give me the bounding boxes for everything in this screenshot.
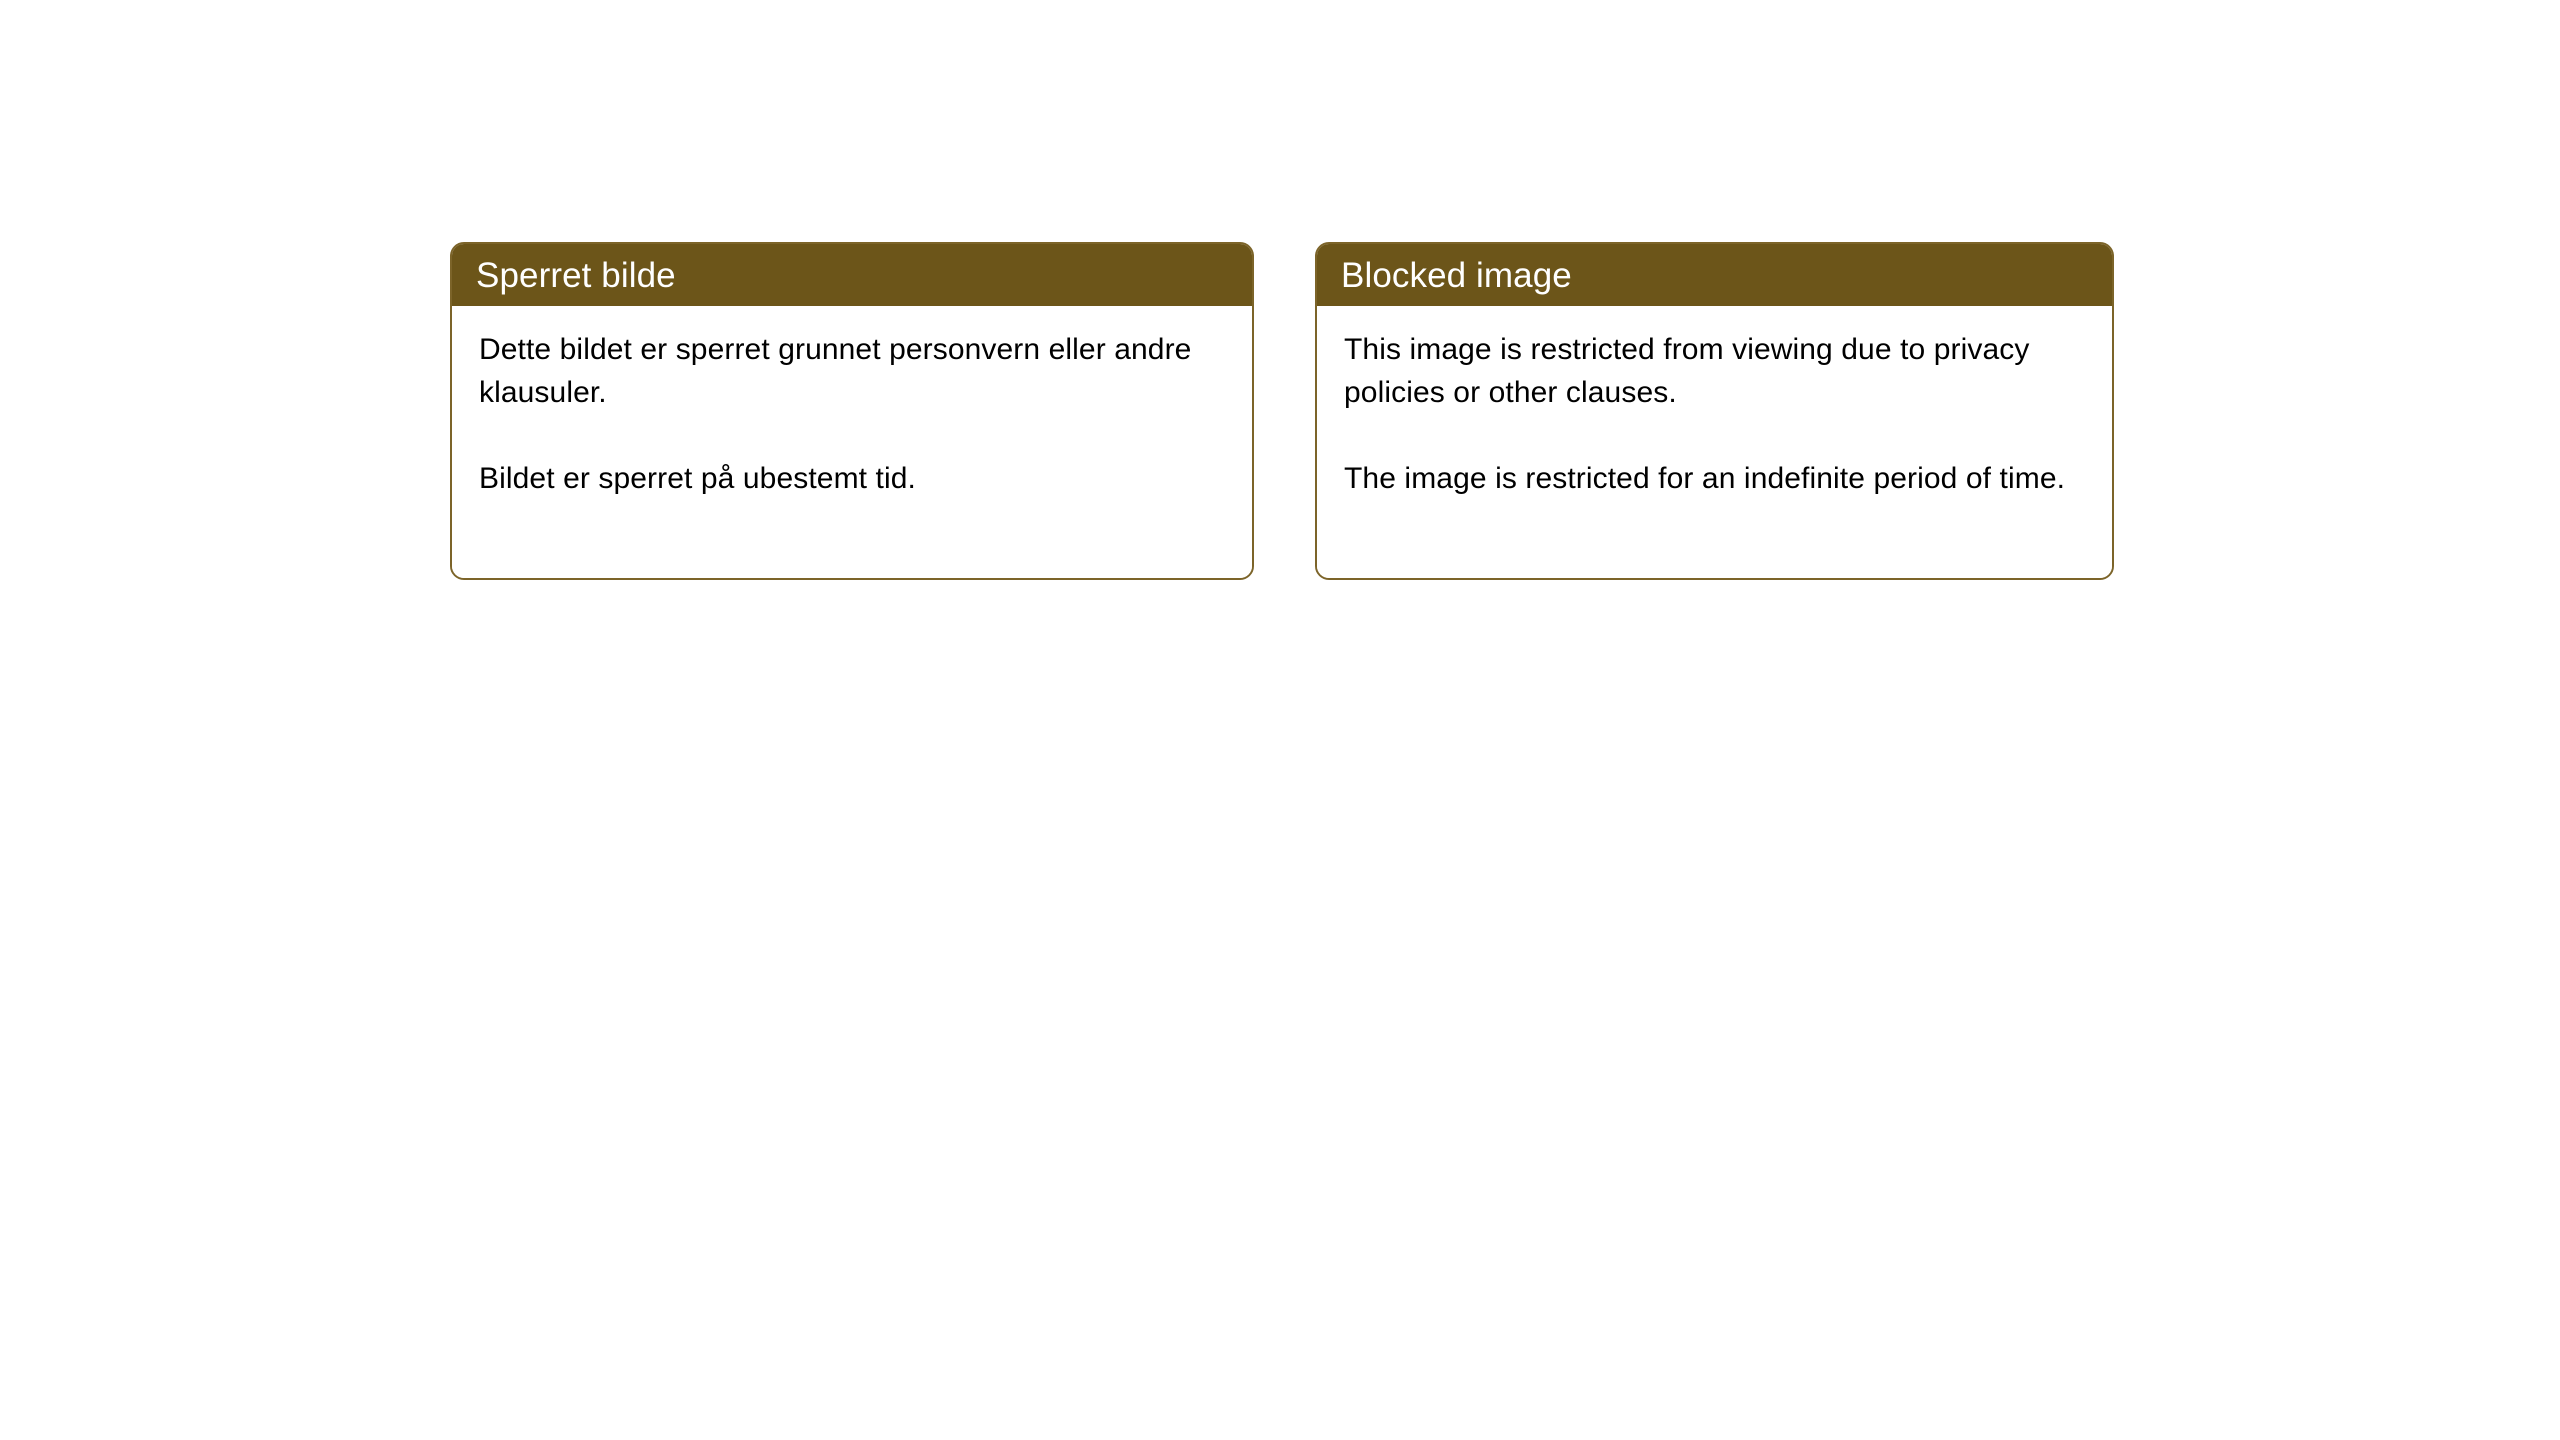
card-body-english: This image is restricted from viewing du…	[1317, 306, 2112, 578]
card-paragraph-primary-norwegian: Dette bildet er sperret grunnet personve…	[479, 328, 1234, 414]
blocked-image-card-english: Blocked image This image is restricted f…	[1315, 242, 2114, 580]
blocked-image-card-norwegian: Sperret bilde Dette bildet er sperret gr…	[450, 242, 1254, 580]
blocked-image-notice-group: Sperret bilde Dette bildet er sperret gr…	[450, 242, 2114, 580]
card-paragraph-secondary-norwegian: Bildet er sperret på ubestemt tid.	[479, 457, 1234, 500]
card-header-english: Blocked image	[1317, 244, 2112, 306]
card-body-norwegian: Dette bildet er sperret grunnet personve…	[452, 306, 1252, 578]
card-header-norwegian: Sperret bilde	[452, 244, 1252, 306]
card-paragraph-primary-english: This image is restricted from viewing du…	[1344, 328, 2094, 414]
card-title-norwegian: Sperret bilde	[476, 258, 676, 293]
card-title-english: Blocked image	[1341, 258, 1572, 293]
card-paragraph-secondary-english: The image is restricted for an indefinit…	[1344, 457, 2094, 500]
